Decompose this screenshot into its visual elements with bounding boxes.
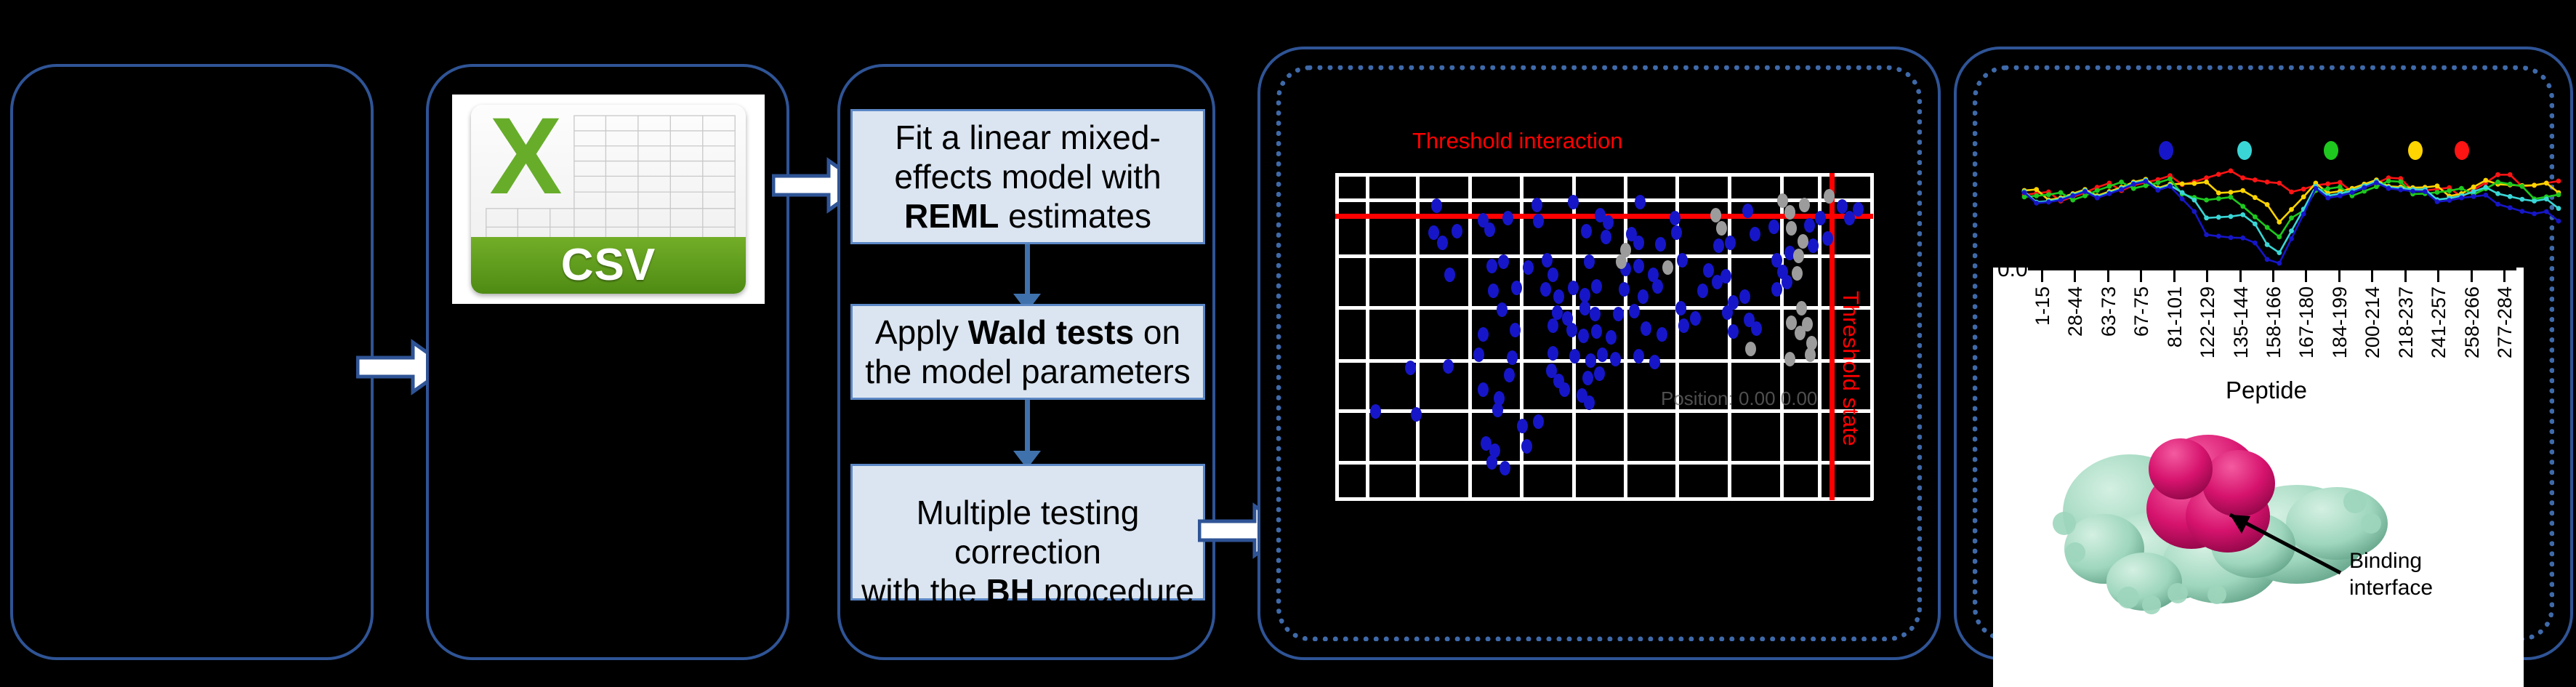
scatter-point — [1722, 305, 1733, 320]
scatter-point — [1657, 327, 1667, 342]
scatter-point — [1742, 204, 1753, 218]
scatter-point — [1638, 289, 1649, 304]
step-reml-text-before: Fit a linear mixed-effects model with — [894, 118, 1161, 196]
scatter-point — [1507, 350, 1518, 365]
scatter-point — [1478, 327, 1489, 342]
scatter-point — [1584, 395, 1595, 410]
step-reml-text: Fit a linear mixed-effects model with RE… — [860, 118, 1196, 236]
step-wald-text: Apply Wald tests on the model parameters — [860, 313, 1196, 392]
scatter-point — [1675, 301, 1686, 316]
peptide-x-tick — [2437, 270, 2439, 282]
peptide-x-tick — [2074, 270, 2076, 282]
scatter-point — [1486, 455, 1497, 470]
scatter-point — [1804, 218, 1815, 233]
scatter-point-grey — [1710, 208, 1721, 222]
scatter-point — [1504, 368, 1515, 382]
peptide-x-tick-label: 167-180 — [2295, 286, 2318, 358]
scatter-point — [1552, 305, 1563, 320]
peptide-x-tick-label: 67-75 — [2130, 286, 2153, 337]
scatter-point — [1677, 253, 1688, 268]
scatter-point — [1750, 227, 1760, 241]
peptide-y-tick-label: 0.0 — [1997, 257, 2028, 282]
scatter-point — [1610, 352, 1621, 366]
peptide-x-tick-label: 200-214 — [2362, 286, 2384, 358]
protein-surface-svg — [2035, 407, 2413, 647]
scatter-point — [1411, 407, 1422, 422]
peptide-x-ticks: 1-1528-4463-7367-7581-101122-129135-1441… — [2028, 270, 2516, 372]
scatter-point-grey — [1616, 254, 1627, 269]
step-wald-box[interactable]: Apply Wald tests on the model parameters — [850, 304, 1205, 400]
scatter-point-grey — [1786, 221, 1797, 236]
scatter-point-grey — [1796, 301, 1807, 316]
scatter-point — [1579, 288, 1590, 302]
peptide-x-tick — [2239, 270, 2242, 282]
binding-label-line2: interface — [2349, 575, 2433, 602]
step-bh-text: Multiple testing correction with the BH … — [860, 453, 1196, 611]
scatter-point-grey — [1792, 266, 1803, 281]
scatter-point — [1523, 260, 1534, 275]
scatter-point — [1697, 284, 1708, 298]
scatter-plot-body: Position: 0.00 0.00 — [1335, 173, 1873, 500]
peptide-x-tick — [2404, 270, 2407, 282]
csv-icon-tile: X CSV — [471, 105, 746, 293]
scatter-point — [1635, 195, 1646, 209]
csv-band-label: CSV — [561, 239, 656, 291]
scatter-point-grey — [1784, 352, 1795, 366]
scatter-point — [1641, 321, 1651, 336]
scatter-point-grey — [1716, 221, 1727, 236]
scatter-point — [1713, 238, 1724, 253]
peptide-series-svg — [1995, 131, 2569, 269]
scatter-point — [1629, 304, 1640, 318]
peptide-x-tick — [2503, 270, 2505, 282]
threshold-state-line — [1830, 173, 1835, 500]
scatter-point-grey — [1798, 234, 1808, 249]
scatter-point — [1585, 353, 1596, 368]
scatter-point — [1728, 324, 1739, 339]
scatter-point — [1370, 404, 1381, 419]
peptide-x-tick-label: 258-266 — [2461, 286, 2484, 358]
scatter-point — [1473, 347, 1484, 362]
scatter-point-grey — [1662, 260, 1673, 275]
peptide-x-tick-label: 218-237 — [2395, 286, 2418, 358]
protein-structure-figure — [2035, 407, 2413, 647]
scatter-point — [1405, 361, 1416, 375]
peptide-x-tick-label: 1-15 — [2032, 286, 2054, 326]
scatter-point — [1590, 307, 1601, 321]
scatter-point — [1553, 289, 1564, 304]
scatter-point — [1652, 279, 1663, 294]
step-bh-text-after: procedure — [1034, 572, 1194, 610]
scatter-point — [1559, 382, 1570, 397]
peptide-x-tick — [2140, 270, 2142, 282]
gridline-v — [1780, 173, 1784, 500]
scatter-point-grey — [1805, 347, 1816, 362]
scatter-point — [1431, 198, 1442, 213]
step-wald-bold: Wald tests — [968, 313, 1134, 351]
peptide-x-tick — [2206, 270, 2208, 282]
scatter-point-grey — [1795, 326, 1806, 340]
scatter-point — [1815, 211, 1826, 225]
scatter-point — [1584, 254, 1595, 269]
peptide-x-tick-label: 158-166 — [2263, 286, 2285, 358]
scatter-point — [1655, 237, 1666, 252]
gridline-v — [1624, 173, 1627, 500]
gridline-v — [1870, 173, 1874, 500]
scatter-point — [1768, 220, 1779, 234]
scatter-point — [1751, 321, 1762, 336]
peptide-x-tick — [2272, 270, 2274, 282]
scatter-point — [1603, 215, 1614, 230]
peptide-x-tick-label: 277-284 — [2494, 286, 2516, 358]
step-bh-bold: BH — [986, 572, 1034, 610]
peptide-x-tick — [2471, 270, 2473, 282]
gridline-v — [1468, 173, 1472, 500]
scatter-point — [1500, 461, 1510, 475]
peptide-x-tick-label: 184-199 — [2329, 286, 2351, 358]
scatter-plot: Threshold interaction Position: 0.00 0.0… — [1319, 145, 1893, 531]
scatter-point — [1498, 254, 1509, 269]
step-reml-bold: REML — [904, 197, 999, 235]
scatter-point — [1566, 323, 1577, 337]
scatter-point — [1606, 330, 1617, 345]
scatter-point — [1568, 281, 1579, 295]
scatter-point — [1486, 259, 1497, 273]
scatter-point — [1633, 259, 1644, 273]
scatter-point — [1497, 302, 1508, 317]
csv-band: CSV — [471, 237, 746, 294]
csv-x-glyph: X — [479, 109, 573, 192]
scatter-point-grey — [1784, 205, 1795, 220]
scatter-point — [1502, 211, 1513, 225]
scatter-point — [1542, 253, 1553, 268]
scatter-point — [1533, 414, 1544, 429]
peptide-x-tick-label: 63-73 — [2098, 286, 2120, 337]
scatter-point — [1613, 307, 1624, 321]
step-bh-box[interactable]: Multiple testing correction with the BH … — [850, 464, 1205, 600]
scatter-point-grey — [1745, 342, 1756, 356]
scatter-point — [1437, 236, 1448, 250]
scatter-point — [1690, 311, 1701, 326]
peptide-x-tick-label: 81-101 — [2164, 286, 2186, 347]
scatter-point — [1484, 222, 1495, 237]
threshold-state-label: Threshold state — [1838, 291, 1864, 446]
connector-reml-wald — [1025, 244, 1030, 298]
peptide-line-chart — [1995, 131, 2569, 269]
peptide-x-tick — [2041, 270, 2043, 282]
threshold-interaction-label: Threshold interaction — [1412, 128, 1623, 154]
scatter-point — [1492, 403, 1503, 417]
peptide-x-tick-label: 122-129 — [2197, 286, 2219, 358]
peptide-x-tick — [2371, 270, 2373, 282]
scatter-point — [1808, 238, 1819, 253]
peptide-x-tick-label: 135-144 — [2230, 286, 2253, 358]
step-reml-box[interactable]: Fit a linear mixed-effects model with RE… — [850, 109, 1205, 244]
scatter-point — [1771, 282, 1782, 297]
scatter-point — [1582, 371, 1593, 385]
scatter-point — [1547, 346, 1558, 361]
peptide-x-tick — [2305, 270, 2307, 282]
gridline-v — [1335, 173, 1339, 500]
scatter-point — [1578, 329, 1589, 343]
scatter-point — [1511, 281, 1522, 295]
scatter-point — [1478, 382, 1489, 397]
gridline-v — [1366, 173, 1369, 500]
scatter-point — [1853, 202, 1864, 217]
scatter-point — [1649, 355, 1660, 369]
binding-interface-annotation: Binding interface — [2349, 548, 2433, 601]
scatter-point — [1547, 268, 1558, 282]
scatter-point — [1619, 282, 1630, 297]
scatter-point — [1822, 231, 1833, 246]
scatter-point — [1568, 195, 1579, 209]
step-wald-text-before: Apply — [875, 313, 968, 351]
binding-label-line1: Binding — [2349, 548, 2433, 575]
connector-wald-bh — [1025, 400, 1030, 455]
scatter-point — [1444, 268, 1455, 282]
scatter-point — [1670, 211, 1681, 225]
scatter-point-grey — [1799, 198, 1810, 212]
gridline-v — [1416, 173, 1420, 500]
scatter-point — [1720, 269, 1731, 284]
step-reml-text-after: estimates — [999, 197, 1151, 235]
scatter-point — [1517, 419, 1528, 433]
scatter-point — [1569, 349, 1580, 363]
scatter-point — [1782, 275, 1792, 289]
scatter-point — [1510, 323, 1521, 337]
scatter-point — [1703, 263, 1714, 278]
peptide-x-tick — [2338, 270, 2340, 282]
scatter-point — [1533, 214, 1544, 228]
scatter-point-grey — [1793, 249, 1804, 263]
scatter-point — [1739, 289, 1750, 304]
scatter-point — [1452, 224, 1462, 238]
peptide-x-tick — [2173, 270, 2175, 282]
csv-file-icon: X CSV — [452, 95, 765, 304]
scatter-point — [1531, 198, 1542, 212]
scatter-point — [1601, 230, 1611, 244]
scatter-point — [1597, 347, 1608, 362]
scatter-point — [1488, 284, 1499, 298]
peptide-axis-title: Peptide — [2226, 377, 2307, 404]
scatter-point — [1579, 301, 1590, 316]
scatter-point — [1633, 236, 1644, 250]
scatter-point — [1633, 349, 1644, 363]
scatter-point — [1594, 366, 1605, 381]
scatter-ghost-readout: Position: 0.00 0.00 — [1661, 387, 1817, 410]
input-panel — [10, 64, 374, 660]
scatter-point — [1547, 318, 1558, 333]
scatter-point — [1521, 439, 1532, 454]
scatter-point — [1591, 279, 1602, 294]
peptide-x-tick — [2107, 270, 2109, 282]
peptide-x-tick-label: 28-44 — [2064, 286, 2087, 337]
scatter-point — [1581, 224, 1592, 238]
scatter-point-grey — [1824, 189, 1835, 204]
scatter-point — [1678, 318, 1689, 333]
scatter-point — [1725, 236, 1736, 250]
scatter-point — [1540, 282, 1551, 297]
scatter-point — [1591, 324, 1602, 339]
peptide-x-tick-label: 241-257 — [2428, 286, 2450, 358]
scatter-point — [1671, 225, 1682, 240]
scatter-point — [1443, 359, 1454, 374]
